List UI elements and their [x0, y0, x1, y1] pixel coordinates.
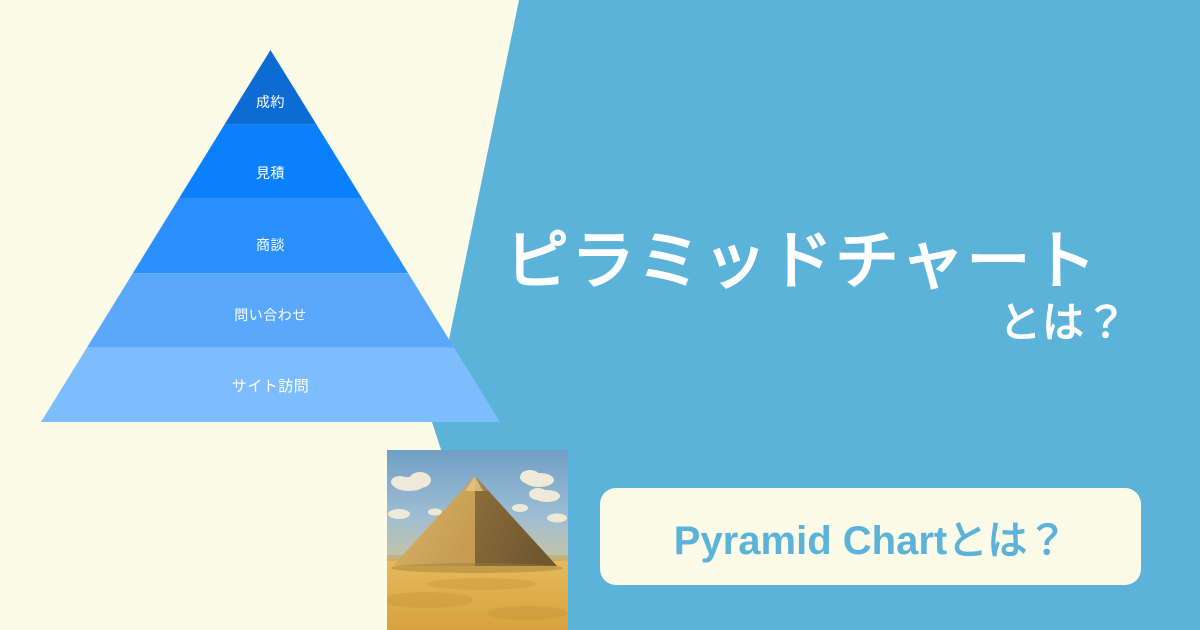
pyramid-level-3 [133, 199, 408, 273]
slide-canvas: 成約 見積 商談 問い合わせ サイト訪問 ピラミッドチャート とは？ Pyram… [0, 0, 1200, 630]
english-term-badge: Pyramid Chartとは？ [600, 488, 1141, 585]
pyramid-photo [387, 450, 568, 630]
pyramid-level-2 [179, 124, 363, 198]
headline-main-text: ピラミッドチャート [505, 228, 1150, 296]
headline-sub-text: とは？ [505, 300, 1150, 346]
pyramid-level-4 [87, 273, 454, 347]
pyramid-shape [41, 50, 500, 422]
pyramid-photo-image [387, 450, 568, 630]
pyramid-level-1 [225, 50, 317, 124]
pyramid-level-5 [41, 348, 500, 422]
headline-block: ピラミッドチャート とは？ [505, 228, 1150, 346]
english-term-badge-label: Pyramid Chartとは？ [674, 508, 1067, 566]
pyramid-chart: 成約 見積 商談 問い合わせ サイト訪問 [41, 50, 500, 422]
